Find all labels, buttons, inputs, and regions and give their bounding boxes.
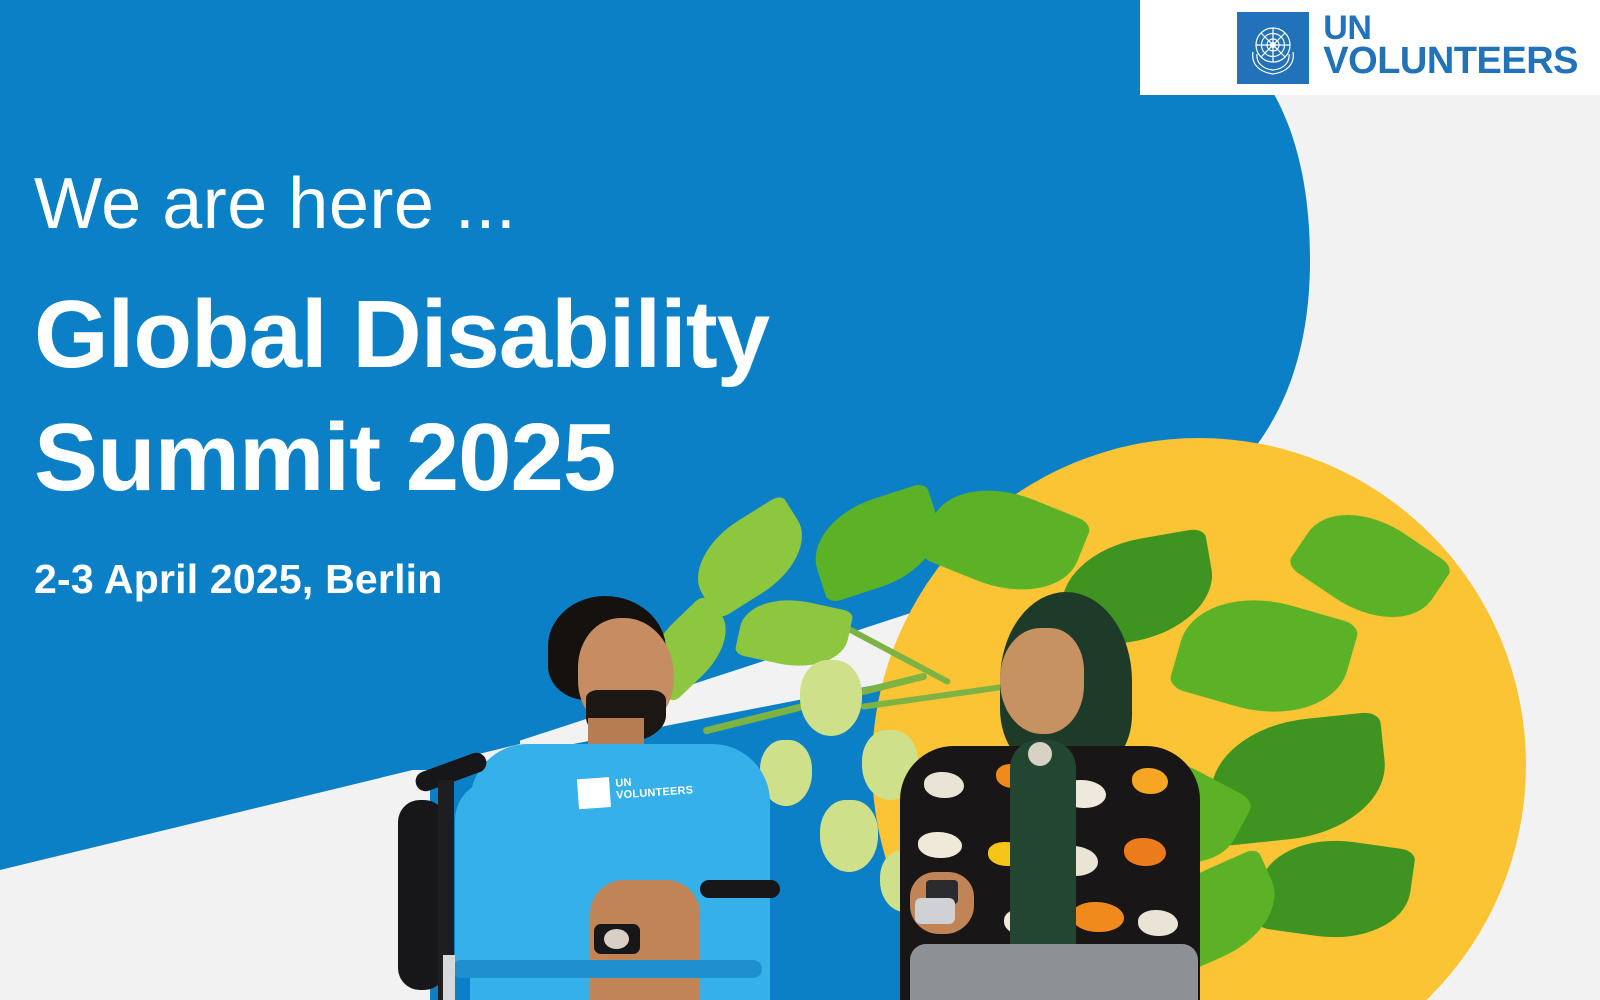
jacket-pattern-shape [1132, 768, 1168, 794]
date-location-text: 2-3 April 2025, Berlin [34, 556, 769, 603]
shirt-un-emblem-icon [577, 777, 611, 809]
jacket-pattern-shape [924, 772, 964, 798]
un-volunteers-logo: UN VOLUNTEERS [1237, 12, 1578, 84]
wheelchair-armrest [700, 880, 780, 898]
logo-line-volunteers: VOLUNTEERS [1323, 44, 1578, 79]
wheelchair-frame [452, 960, 762, 978]
headline-line-2: Summit 2025 [34, 397, 769, 520]
woman-face [1000, 628, 1084, 734]
jacket-pattern-shape [1138, 910, 1178, 936]
man-watch-face [604, 929, 629, 949]
eyebrow-text: We are here ... [34, 168, 769, 240]
jacket-pattern-shape [1072, 902, 1124, 932]
global-disability-summit-banner: UN VOLUNTEERS [0, 0, 1600, 1000]
jacket-pattern-shape [918, 832, 962, 858]
shirt-logo-text: UN VOLUNTEERS [615, 773, 694, 801]
woman-brooch [1028, 742, 1052, 766]
wheelchair-rail [443, 955, 455, 1000]
jacket-pattern-shape [1124, 838, 1166, 866]
un-emblem-icon [1237, 12, 1309, 84]
headline-copy-block: We are here ... Global Disability Summit… [34, 168, 769, 603]
woman-trousers [910, 944, 1198, 1000]
headline-line-1: Global Disability [34, 274, 769, 397]
woman-wristwatch [915, 898, 955, 924]
un-volunteers-wordmark: UN VOLUNTEERS [1323, 12, 1578, 79]
